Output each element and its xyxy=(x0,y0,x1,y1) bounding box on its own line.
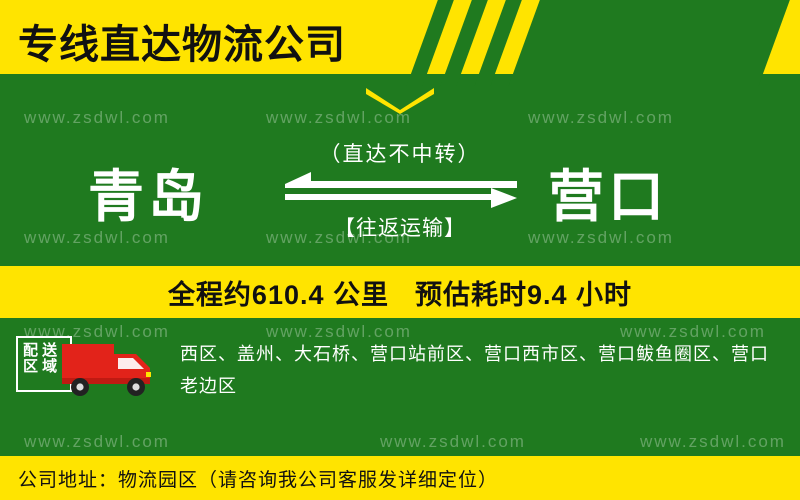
watermark-text: www.zsdwl.com xyxy=(24,108,170,128)
destination-city: 营口 xyxy=(548,152,668,233)
company-address: 公司地址：物流园区（请咨询我公司客服发详细定位） xyxy=(18,465,498,492)
badge-line-2: 区 域 xyxy=(23,359,66,375)
watermark-text: www.zsdwl.com xyxy=(640,432,786,452)
route-section: 青岛 （直达不中转） 【往返运输】 营口 xyxy=(0,130,800,265)
route-note-top: （直达不中转） xyxy=(280,138,520,168)
stats-bar: 全程约610.4 公里 预估耗时9.4 小时 xyxy=(0,266,800,318)
origin-city: 青岛 xyxy=(88,152,208,233)
coverage-cities-text: 西区、盖州、大石桥、营口站前区、营口西市区、营口鲅鱼圈区、营口老边区 xyxy=(180,338,786,402)
top-banner: 专线直达物流公司 xyxy=(0,0,800,74)
delivery-area-block: 配 送 区 域 xyxy=(16,332,166,400)
double-arrow-icon xyxy=(285,172,517,208)
watermark-text: www.zsdwl.com xyxy=(528,108,674,128)
watermark-text: www.zsdwl.com xyxy=(380,432,526,452)
banner-stripe xyxy=(509,0,794,86)
delivery-truck-icon xyxy=(62,338,166,400)
badge-line-1: 配 送 xyxy=(23,343,66,359)
route-note-bottom: 【往返运输】 xyxy=(280,212,520,242)
logistics-poster: www.zsdwl.com www.zsdwl.com www.zsdwl.co… xyxy=(0,0,800,500)
chevron-down-icon xyxy=(366,88,434,114)
page-title: 专线直达物流公司 xyxy=(18,12,346,70)
duration-text: 预估耗时9.4 小时 xyxy=(415,273,632,312)
watermark-text: www.zsdwl.com xyxy=(24,432,170,452)
distance-text: 全程约610.4 公里 xyxy=(168,273,389,312)
footer-bar: 公司地址：物流园区（请咨询我公司客服发详细定位） xyxy=(0,456,800,500)
